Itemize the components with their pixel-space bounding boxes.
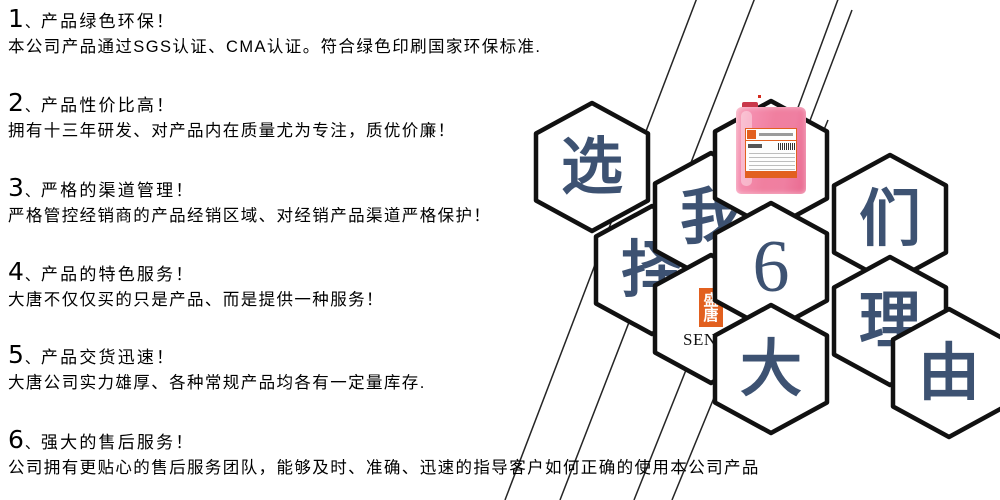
drum-label — [745, 128, 797, 178]
hexagon-cluster: 选 择 我 盛 唐 SENTA — [0, 0, 1000, 500]
label-brand-block — [747, 130, 756, 139]
label-footer-bar — [746, 171, 796, 177]
product-drum-icon — [736, 102, 806, 194]
hex-label: 由 — [890, 306, 1000, 440]
hex-label: 大 — [712, 302, 830, 436]
label-title-line — [759, 133, 793, 136]
promo-banner: 1 、 产品绿色环保！ 本公司产品通过SGS认证、CMA认证。符合绿色印刷国家环… — [0, 0, 1000, 500]
barcode-icon — [778, 143, 796, 150]
label-text-block — [749, 153, 795, 171]
label-subheader — [748, 142, 796, 150]
label-header — [746, 129, 796, 141]
hex-cell-da: 大 — [712, 302, 830, 436]
label-code — [748, 144, 762, 148]
hex-cell-you: 由 — [890, 306, 1000, 440]
